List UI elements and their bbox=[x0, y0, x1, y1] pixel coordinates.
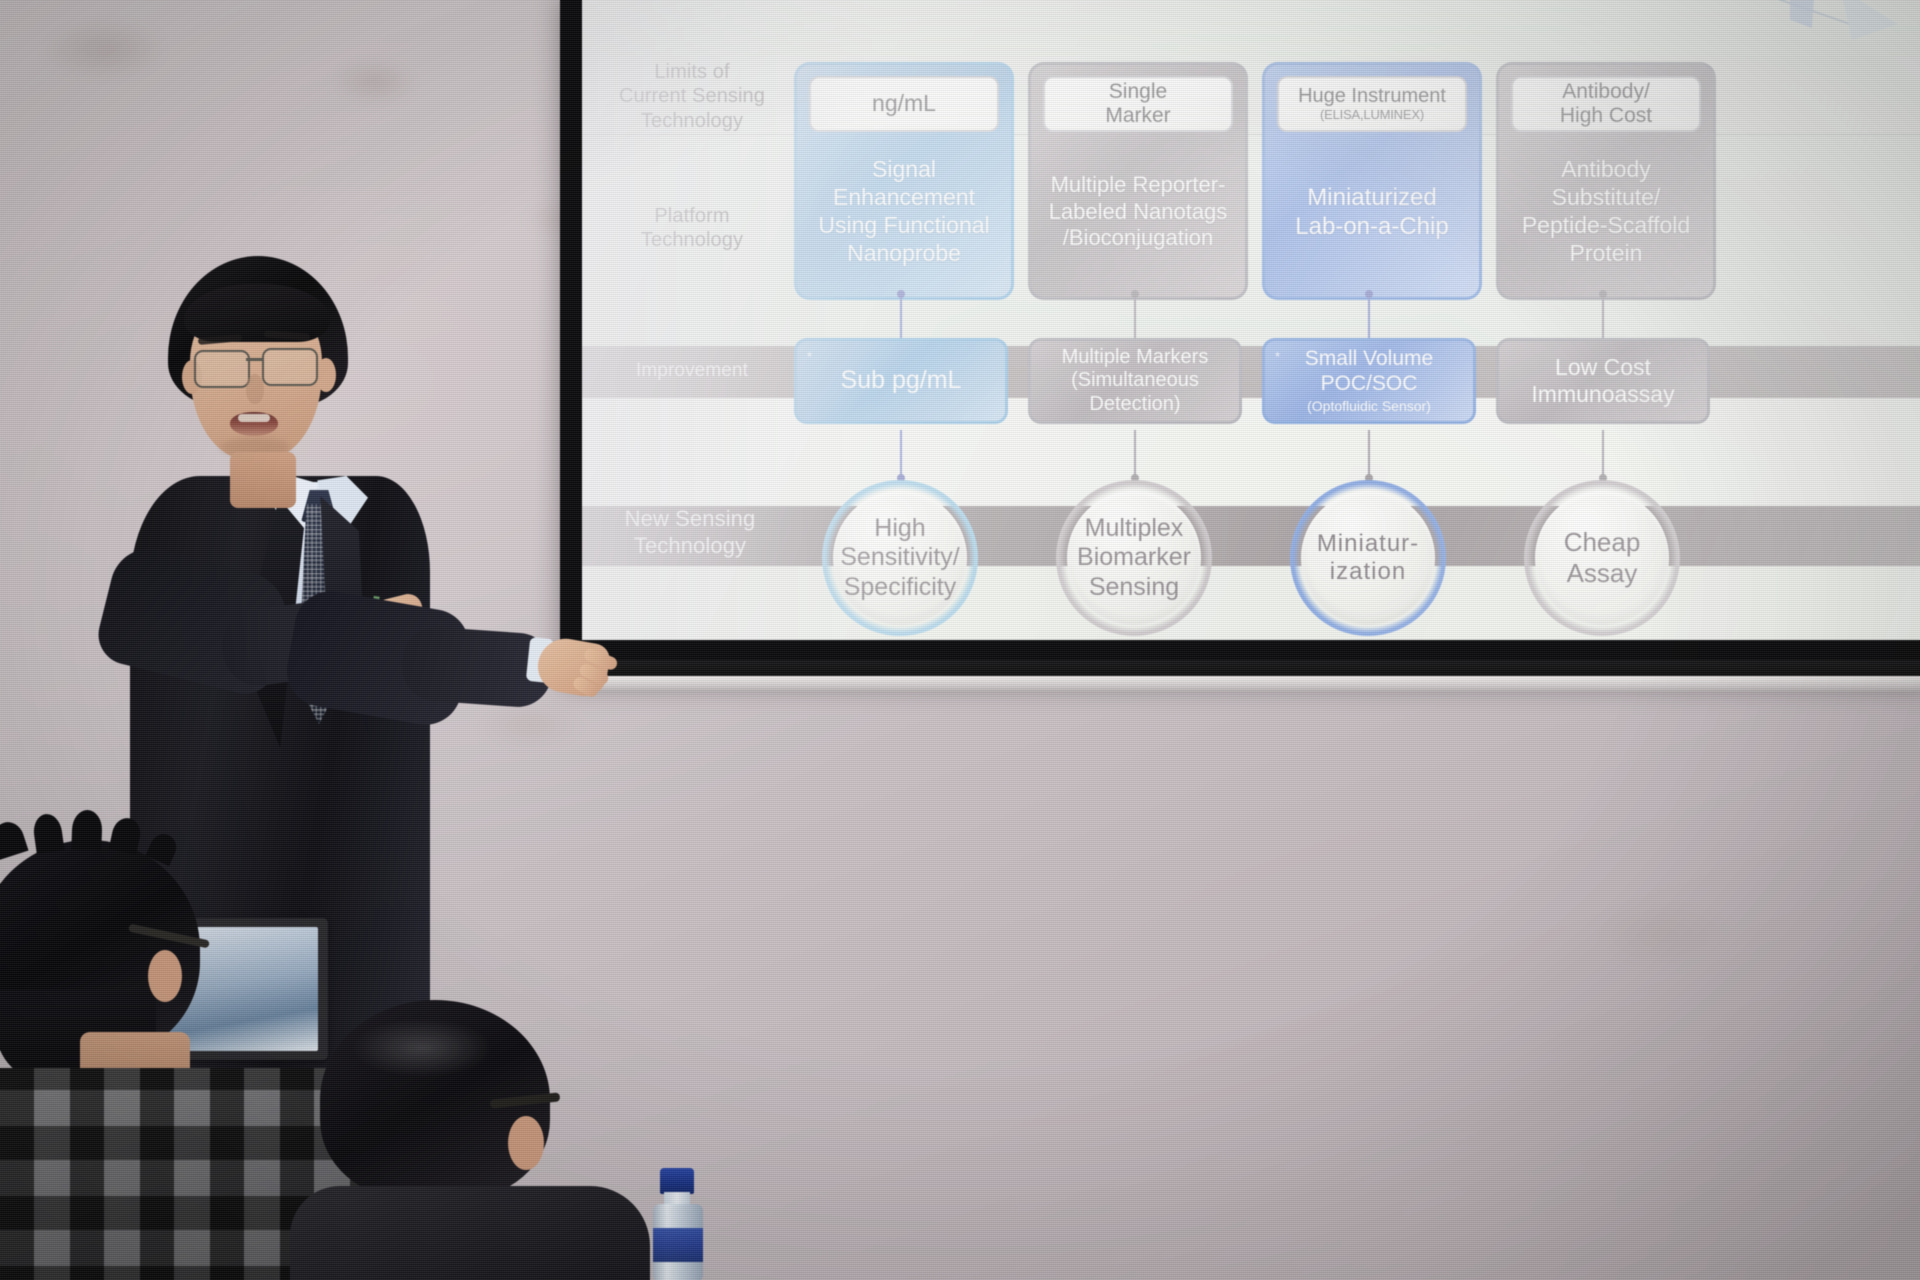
improvement-line: Detection) bbox=[1062, 393, 1209, 417]
connector-dot-col1-top bbox=[897, 290, 905, 298]
limit-title-col1: ng/mL bbox=[872, 91, 936, 117]
ear bbox=[508, 1116, 544, 1170]
improvement-card-col2[interactable]: Multiple Markers (Simultaneous Detection… bbox=[1028, 338, 1242, 424]
connector-col3-improvement-outcome bbox=[1368, 430, 1370, 478]
platform-card-col4[interactable]: Antibody/ High Cost Antibody Substitute/… bbox=[1496, 62, 1716, 300]
connector-col4-platform-improvement bbox=[1602, 294, 1604, 340]
improvement-line: Multiple Markers bbox=[1062, 346, 1209, 370]
row-label-limits-line2: Current Sensing bbox=[592, 84, 792, 108]
platform-text-col1: Signal Enhancement Using Functional Nano… bbox=[805, 137, 1003, 287]
screen-surface: Limits of Current Sensing Technology Pla… bbox=[582, 0, 1920, 640]
screen-roller-housing bbox=[580, 676, 1920, 692]
improvement-card-col3[interactable]: * Small Volume POC/SOC (Optofluidic Sens… bbox=[1262, 338, 1476, 424]
limit-badge-col1: ng/mL bbox=[809, 76, 999, 132]
platform-line: Enhancement bbox=[818, 184, 989, 212]
slide-matrix: Limits of Current Sensing Technology Pla… bbox=[582, 56, 1920, 640]
teeth bbox=[238, 414, 270, 422]
presenter-head bbox=[168, 256, 358, 496]
asterisk-icon-col1: * bbox=[807, 349, 812, 364]
neck bbox=[230, 452, 296, 508]
row-label-improvement: Improvement bbox=[592, 359, 792, 382]
row-label-platform-line1: Platform bbox=[592, 204, 792, 228]
platform-text-col4: Antibody Substitute/ Peptide-Scaffold Pr… bbox=[1507, 137, 1705, 287]
connector-col3-platform-improvement bbox=[1368, 294, 1370, 340]
improvement-card-col1[interactable]: * Sub pg/mL bbox=[794, 338, 1008, 424]
improvement-card-col4[interactable]: Low Cost Immunoassay bbox=[1496, 338, 1710, 424]
limit-badge-col3: Huge Instrument (ELISA,LUMINEX) bbox=[1277, 76, 1467, 132]
improvement-subtitle-col3: (Optofluidic Sensor) bbox=[1305, 398, 1433, 415]
limit-badge-col2: Single Marker bbox=[1043, 76, 1233, 132]
outcome-circle-col2[interactable]: Multiplex Biomarker Sensing bbox=[1056, 480, 1212, 636]
improvement-line: Small Volume bbox=[1305, 347, 1433, 372]
row-label-limits-line3: Technology bbox=[592, 109, 792, 133]
platform-line: Using Functional bbox=[818, 212, 989, 240]
outcome-text-col1: High Sensitivity/ Specificity bbox=[840, 514, 959, 603]
outcome-line: Multiplex bbox=[1077, 514, 1191, 544]
platform-text-col2: Multiple Reporter- Labeled Nanotags /Bio… bbox=[1039, 137, 1237, 287]
mouth bbox=[230, 412, 278, 436]
screenshot-root: Limits of Current Sensing Technology Pla… bbox=[0, 0, 1920, 1280]
presentation-slide: Limits of Current Sensing Technology Pla… bbox=[582, 0, 1920, 640]
row-label-new-sensing: New Sensing Technology bbox=[590, 506, 790, 560]
projection-screen: Limits of Current Sensing Technology Pla… bbox=[560, 0, 1920, 676]
outcome-line: High bbox=[840, 514, 959, 544]
audience-member-front-center bbox=[300, 1000, 620, 1280]
slide-corner-graphic bbox=[1640, 0, 1920, 58]
outcome-line: Cheap bbox=[1564, 527, 1641, 558]
outcome-line: Specificity bbox=[840, 573, 959, 603]
outcome-line: Biomarker bbox=[1077, 543, 1191, 573]
outcome-circle-col4[interactable]: Cheap Assay bbox=[1524, 480, 1680, 636]
improvement-line: (Simultaneous bbox=[1062, 369, 1209, 393]
limit-title-col2-line2: Marker bbox=[1105, 104, 1170, 128]
outcome-line: Sensing bbox=[1077, 573, 1191, 603]
platform-card-col1[interactable]: ng/mL Signal Enhancement Using Functiona… bbox=[794, 62, 1014, 300]
bottle-label bbox=[653, 1228, 703, 1262]
limit-title-col4-line1: Antibody/ bbox=[1562, 80, 1650, 104]
row-label-platform-line2: Technology bbox=[592, 228, 792, 252]
outcome-line: Miniatur- bbox=[1317, 530, 1419, 558]
glasses-bridge bbox=[246, 358, 264, 361]
connector-col1-improvement-outcome bbox=[900, 430, 902, 478]
outcome-circle-col3[interactable]: Miniatur- ization bbox=[1290, 480, 1446, 636]
platform-line: Nanoprobe bbox=[818, 240, 989, 268]
outcome-text-col3: Miniatur- ization bbox=[1317, 530, 1419, 587]
improvement-line: Low Cost bbox=[1531, 354, 1674, 381]
water-bottle bbox=[650, 1168, 706, 1280]
limit-badge-col4: Antibody/ High Cost bbox=[1511, 76, 1701, 132]
limit-title-col3: Huge Instrument bbox=[1298, 85, 1446, 107]
connector-col2-platform-improvement bbox=[1134, 294, 1136, 340]
platform-card-col3[interactable]: Huge Instrument (ELISA,LUMINEX) Miniatur… bbox=[1262, 62, 1482, 300]
platform-line: Antibody bbox=[1522, 156, 1690, 184]
row-label-limits: Limits of Current Sensing Technology bbox=[592, 60, 792, 133]
outcome-text-col2: Multiplex Biomarker Sensing bbox=[1077, 514, 1191, 603]
outcome-line: ization bbox=[1317, 558, 1419, 586]
outcome-line: Assay bbox=[1564, 558, 1641, 589]
connector-dot-col3-top bbox=[1365, 290, 1373, 298]
presenter-arm-right bbox=[290, 600, 610, 840]
connector-dot-col4-top bbox=[1599, 290, 1607, 298]
row-band-spacer bbox=[582, 398, 1920, 506]
nose bbox=[246, 374, 264, 404]
platform-card-col2[interactable]: Single Marker Multiple Reporter- Labeled… bbox=[1028, 62, 1248, 300]
connector-col4-improvement-outcome bbox=[1602, 430, 1604, 478]
connector-col1-platform-improvement bbox=[900, 294, 902, 340]
row-band-footer bbox=[582, 566, 1920, 640]
platform-line: Lab-on-a-Chip bbox=[1295, 212, 1448, 241]
platform-line: /Bioconjugation bbox=[1049, 225, 1228, 252]
bottle-cap bbox=[660, 1168, 694, 1194]
improvement-line: Immunoassay bbox=[1531, 381, 1674, 408]
improvement-text-col1: Sub pg/mL bbox=[841, 366, 962, 396]
ear bbox=[148, 950, 182, 1002]
lens-right bbox=[262, 348, 318, 386]
row-label-new-sensing-line2: Technology bbox=[590, 533, 790, 560]
platform-line: Substitute/ bbox=[1522, 184, 1690, 212]
outcome-line: Sensitivity/ bbox=[840, 543, 959, 573]
improvement-line: POC/SOC bbox=[1305, 372, 1433, 397]
platform-line: Multiple Reporter- bbox=[1049, 172, 1228, 199]
platform-line: Signal bbox=[818, 156, 989, 184]
row-label-limits-line1: Limits of bbox=[592, 60, 792, 84]
limit-title-col2-line1: Single bbox=[1109, 80, 1167, 104]
row-label-new-sensing-line1: New Sensing bbox=[590, 506, 790, 533]
outcome-circle-col1[interactable]: High Sensitivity/ Specificity bbox=[822, 480, 978, 636]
lens-left bbox=[194, 350, 250, 388]
platform-text-col3: Miniaturized Lab-on-a-Chip bbox=[1273, 137, 1471, 287]
connector-dot-col2-top bbox=[1131, 290, 1139, 298]
asterisk-icon-col3: * bbox=[1275, 349, 1280, 364]
limit-subtitle-col3: (ELISA,LUMINEX) bbox=[1320, 108, 1424, 123]
outcome-text-col4: Cheap Assay bbox=[1564, 527, 1641, 588]
platform-line: Labeled Nanotags bbox=[1049, 199, 1228, 226]
platform-line: Miniaturized bbox=[1295, 183, 1448, 212]
limit-title-col4-line2: High Cost bbox=[1560, 104, 1652, 128]
shoulders bbox=[290, 1186, 650, 1280]
hair-highlight bbox=[352, 1018, 492, 1078]
platform-line: Peptide-Scaffold bbox=[1522, 212, 1690, 240]
row-label-platform: Platform Technology bbox=[592, 204, 792, 253]
platform-line: Protein bbox=[1522, 240, 1690, 268]
connector-col2-improvement-outcome bbox=[1134, 430, 1136, 478]
